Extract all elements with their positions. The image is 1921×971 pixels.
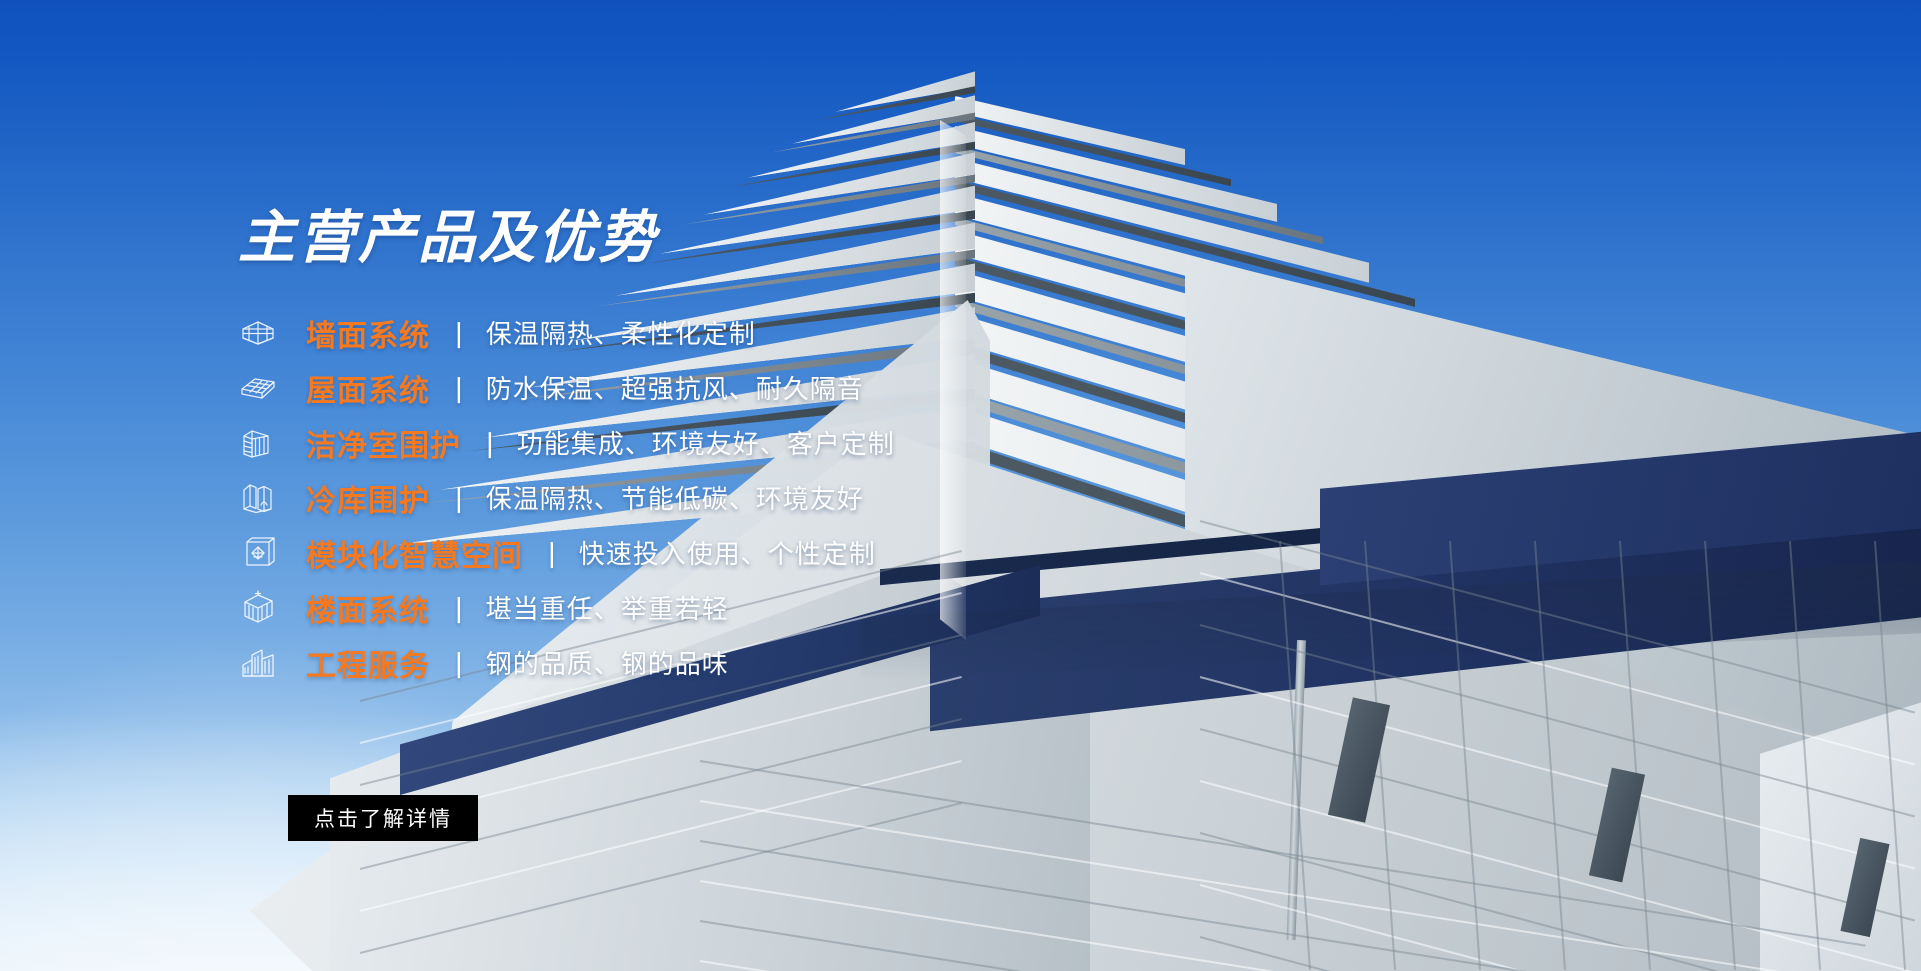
modular-space-icon (238, 533, 278, 573)
product-description: 功能集成、环境友好、客户定制 (517, 424, 895, 461)
product-row[interactable]: 冷库围护❙保温隔热、节能低碳、环境友好 (238, 470, 1138, 525)
product-description: 保温隔热、柔性化定制 (486, 314, 756, 351)
product-description: 保温隔热、节能低碳、环境友好 (486, 479, 864, 516)
product-description: 钢的品质、钢的品味 (486, 644, 729, 681)
title-separator: ❙ (453, 485, 465, 511)
product-row[interactable]: 屋面系统❙防水保温、超强抗风、耐久隔音 (238, 360, 1138, 415)
product-description: 快速投入使用、个性定制 (579, 534, 876, 571)
cleanroom-icon (238, 423, 278, 463)
wall-panel-icon (238, 313, 278, 353)
page-title: 主营产品及优势 (238, 207, 658, 269)
product-title: 模块化智慧空间 (306, 531, 523, 575)
floor-deck-icon (238, 588, 278, 628)
cold-storage-icon (238, 478, 278, 518)
product-title: 楼面系统 (306, 586, 430, 630)
title-separator: ❙ (546, 540, 558, 566)
banner-content: 主营产品及优势 墙面系统❙保温隔热、柔性化定制 屋面系统❙防水保温、超强抗风、耐… (0, 0, 980, 971)
product-row[interactable]: 楼面系统❙堪当重任、举重若轻 (238, 580, 1138, 635)
product-row[interactable]: 模块化智慧空间❙快速投入使用、个性定制 (238, 525, 1138, 580)
product-row[interactable]: 墙面系统❙保温隔热、柔性化定制 (238, 305, 1138, 360)
product-title: 冷库围护 (306, 476, 430, 520)
product-row[interactable]: 洁净室围护❙功能集成、环境友好、客户定制 (238, 415, 1138, 470)
title-separator: ❙ (453, 320, 465, 346)
title-separator: ❙ (453, 375, 465, 401)
product-title: 墙面系统 (306, 311, 430, 355)
product-row[interactable]: 工程服务❙钢的品质、钢的品味 (238, 635, 1138, 690)
engineering-service-icon (238, 643, 278, 683)
product-list: 墙面系统❙保温隔热、柔性化定制 屋面系统❙防水保温、超强抗风、耐久隔音 洁净室围… (238, 305, 1138, 690)
title-separator: ❙ (453, 650, 465, 676)
product-description: 防水保温、超强抗风、耐久隔音 (486, 369, 864, 406)
product-title: 工程服务 (306, 641, 430, 685)
roof-panel-icon (238, 368, 278, 408)
product-description: 堪当重任、举重若轻 (486, 589, 729, 626)
product-title: 屋面系统 (306, 366, 430, 410)
title-separator: ❙ (484, 430, 496, 456)
title-separator: ❙ (453, 595, 465, 621)
product-title: 洁净室围护 (306, 421, 461, 465)
banner-stage: 主营产品及优势 墙面系统❙保温隔热、柔性化定制 屋面系统❙防水保温、超强抗风、耐… (0, 0, 1921, 971)
learn-more-button[interactable]: 点击了解详情 (288, 795, 478, 841)
